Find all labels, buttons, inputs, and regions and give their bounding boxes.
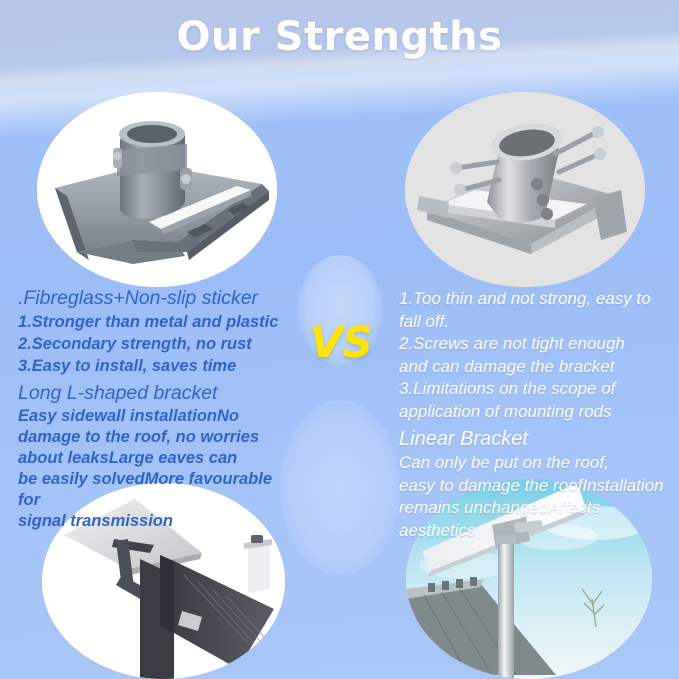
linear-bracket-illustration bbox=[405, 92, 645, 287]
right-sub-heading: Linear Bracket bbox=[399, 426, 675, 452]
right-sub-line: Can only be put on the roof, bbox=[399, 452, 675, 475]
vs-badge: VS bbox=[310, 322, 370, 364]
right-drawback-item: fall off. bbox=[399, 311, 675, 334]
left-benefits-column: .Fibreglass+Non-slip sticker 1.Stronger … bbox=[18, 286, 290, 532]
product-image-linear-bracket bbox=[405, 92, 645, 287]
left-benefit-item: 3.Easy to install, saves time bbox=[18, 355, 290, 377]
left-sub-line: Easy sidewall installationNo bbox=[18, 406, 290, 427]
left-sub-line: signal transmission bbox=[18, 511, 290, 532]
right-sub-line: remains unchangedAffects aesthetics bbox=[399, 497, 675, 542]
left-benefit-item: 1.Stronger than metal and plastic bbox=[18, 311, 290, 333]
product-image-fibreglass-bracket bbox=[37, 92, 277, 287]
right-drawback-item: and can damage the bracket bbox=[399, 356, 675, 379]
center-glow-lower bbox=[280, 400, 400, 575]
right-drawbacks-column: 1.Too thin and not strong, easy to fall … bbox=[399, 288, 675, 542]
right-drawback-item: application of mounting rods bbox=[399, 401, 675, 424]
comparison-poster: Our Strengths bbox=[0, 0, 679, 679]
right-drawback-item: 1.Too thin and not strong, easy to bbox=[399, 288, 675, 311]
left-sub-line: about leaksLarge eaves can bbox=[18, 448, 290, 469]
left-sub-heading: Long L-shaped bracket bbox=[18, 380, 290, 406]
fibreglass-bracket-illustration bbox=[37, 92, 277, 287]
right-sub-line: easy to damage the roofInstallation bbox=[399, 475, 675, 498]
left-lead-text: .Fibreglass+Non-slip sticker bbox=[18, 286, 290, 311]
left-sub-line: be easily solvedMore favourable for bbox=[18, 469, 290, 511]
right-drawback-item: 3.Limitations on the scope of bbox=[399, 378, 675, 401]
left-sub-line: damage to the roof, no worries bbox=[18, 427, 290, 448]
page-title: Our Strengths bbox=[0, 14, 679, 60]
right-drawback-item: 2.Screws are not tight enough bbox=[399, 333, 675, 356]
left-benefit-item: 2.Secondary strength, no rust bbox=[18, 333, 290, 355]
